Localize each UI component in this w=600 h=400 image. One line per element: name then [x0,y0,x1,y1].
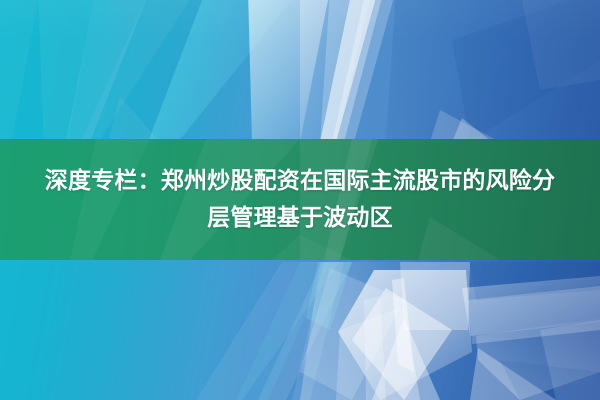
article-banner-image: 深度专栏：郑州炒股配资在国际主流股市的风险分 层管理基于波动区 [0,0,600,400]
title-band: 深度专栏：郑州炒股配资在国际主流股市的风险分 层管理基于波动区 [0,139,600,260]
page-title-line-1: 深度专栏：郑州炒股配资在国际主流股市的风险分 [45,168,555,194]
page-title: 深度专栏：郑州炒股配资在国际主流股市的风险分 层管理基于波动区 [10,163,590,237]
page-title-line-2: 层管理基于波动区 [207,205,393,231]
